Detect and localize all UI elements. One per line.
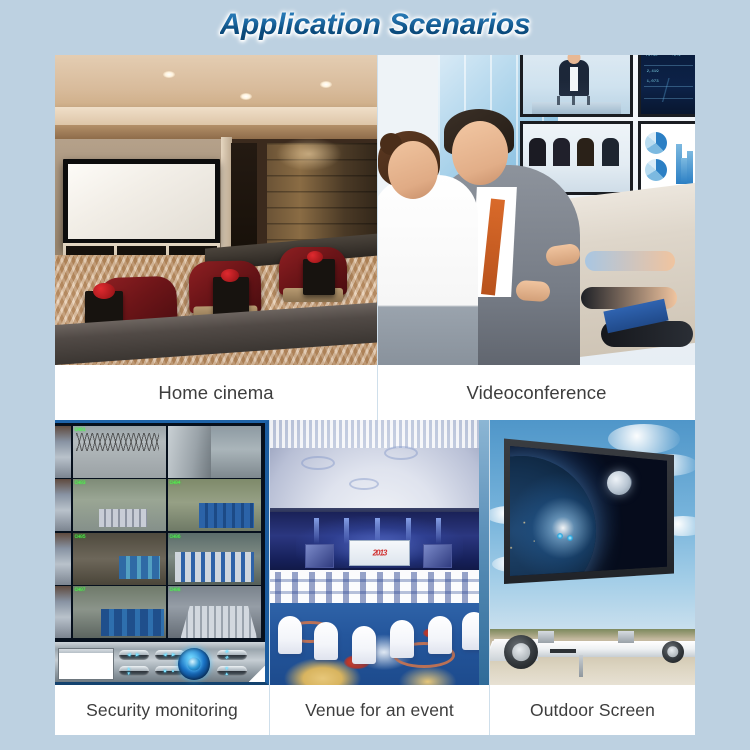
venue-chair <box>278 616 302 654</box>
venue-main-screen: 2013 <box>349 540 410 566</box>
trailer-wheel <box>662 641 684 663</box>
venue-chair <box>428 616 452 654</box>
venue-right-edge <box>479 420 489 685</box>
trailer-jack <box>579 655 583 677</box>
scenario-image-outdoor-screen <box>490 420 695 685</box>
scenario-row-1-images: 73.40 +1.2 2,419 1,073 <box>55 55 695 365</box>
earth-graphic <box>510 456 596 576</box>
outdoor-led-screen <box>504 434 674 584</box>
dvr-button[interactable]: ◀ ▶ <box>119 650 149 660</box>
scenario-image-venue: 2013 <box>270 420 489 685</box>
cctv-timestamp: CH06 <box>170 534 181 540</box>
poster-root: Application Scenarios <box>0 0 750 750</box>
cctv-camera: CH07 <box>73 586 167 638</box>
vc-far-participants <box>581 235 695 365</box>
scenario-image-home-cinema <box>55 55 377 365</box>
cctv-timestamp: CH01 <box>75 427 86 433</box>
cinema-door <box>231 143 257 255</box>
venue-chair <box>352 626 376 664</box>
venue-ceiling-medallion <box>384 446 418 460</box>
dvr-display <box>58 648 114 680</box>
cctv-timestamp: CH05 <box>75 534 86 540</box>
dvr-joystick[interactable] <box>178 648 210 680</box>
venue-ceiling-medallion <box>301 456 335 470</box>
scenario-row-1-captions: Home cinema Videoconference <box>55 365 695 420</box>
dvr-control-panel: ◀ ▶ ▲ ▼ ◀ ▶ ■ ● ❖ ❖ ▼ ▲ <box>55 642 269 685</box>
cctv-camera: CH02 <box>168 426 262 478</box>
scenario-row-2-images: CH01 CH02 CH03 CH04 CH05 CH06 CH07 CH08 <box>55 420 695 685</box>
cctv-camera: CH08 <box>168 586 262 638</box>
dvr-button[interactable]: ▼ ▲ <box>217 666 247 676</box>
panel-corner-highlight <box>249 666 265 682</box>
dvr-button[interactable]: ❖ ❖ <box>217 650 247 660</box>
cctv-camera-edge <box>55 479 71 531</box>
cctv-camera: CH03 <box>73 479 167 531</box>
cctv-camera: CH05 <box>73 533 167 585</box>
cinema-flower-arrangement <box>307 251 323 263</box>
cctv-camera: CH01 <box>73 426 167 478</box>
scenario-image-videoconference: 73.40 +1.2 2,419 1,073 <box>378 55 695 365</box>
trailer-wheel <box>504 635 538 669</box>
page-title-wrap: Application Scenarios <box>0 8 750 42</box>
venue-ceiling-medallion <box>349 478 379 490</box>
caption-outdoor-screen: Outdoor Screen <box>490 685 695 735</box>
spacecraft-graphic <box>557 533 575 541</box>
caption-videoconference: Videoconference <box>378 365 695 420</box>
caption-security-monitoring: Security monitoring <box>55 685 269 735</box>
downlight-icon <box>163 71 175 78</box>
cctv-timestamp: CH07 <box>75 587 86 593</box>
scenario-image-security-monitoring: CH01 CH02 CH03 CH04 CH05 CH06 CH07 CH08 <box>55 420 269 685</box>
vc-video-panel-presenter <box>520 55 633 117</box>
outdoor-screen-content <box>510 442 667 576</box>
venue-chair <box>390 620 414 658</box>
cctv-camera-grid: CH01 CH02 CH03 CH04 CH05 CH06 CH07 CH08 <box>55 426 261 638</box>
cinema-side-table <box>303 259 335 295</box>
cctv-camera-edge <box>55 586 71 638</box>
venue-side-screen <box>423 544 451 568</box>
caption-venue: Venue for an event <box>270 685 489 735</box>
downlight-icon <box>240 93 252 100</box>
cctv-timestamp: CH02 <box>170 427 181 433</box>
venue-screen-text: 2013 <box>373 549 387 558</box>
cctv-camera-edge <box>55 533 71 585</box>
trailer-hitch <box>550 649 576 653</box>
cinema-flower-arrangement <box>93 283 115 299</box>
cloud-icon <box>608 424 680 454</box>
dvr-button[interactable]: ▲ ▼ <box>119 666 149 676</box>
venue-side-screen <box>305 544 333 568</box>
venue-carpet <box>270 603 489 685</box>
cinema-flower-arrangement <box>221 269 239 282</box>
page-title: Application Scenarios <box>220 8 531 42</box>
scenario-grid: 73.40 +1.2 2,419 1,073 <box>55 55 695 735</box>
cctv-timestamp: CH08 <box>170 587 181 593</box>
cctv-monitor: CH01 CH02 CH03 CH04 CH05 CH06 CH07 CH08 <box>55 420 269 642</box>
cinema-projection-screen <box>63 159 220 247</box>
cctv-camera: CH06 <box>168 533 262 585</box>
moon-graphic <box>607 471 631 495</box>
cctv-timestamp: CH04 <box>170 480 181 486</box>
trailer-mount <box>618 631 634 643</box>
downlight-icon <box>320 81 332 88</box>
vc-participant-woman <box>378 175 478 365</box>
scenario-row-2-captions: Security monitoring Venue for an event O… <box>55 685 695 735</box>
cctv-camera-edge <box>55 426 71 478</box>
cctv-camera: CH04 <box>168 479 262 531</box>
vc-video-panel-data: 73.40 +1.2 2,419 1,073 <box>638 55 695 117</box>
vc-hand <box>515 280 550 302</box>
cinema-screen-surface <box>68 164 215 239</box>
trailer-mount <box>538 631 554 643</box>
caption-home-cinema: Home cinema <box>55 365 377 420</box>
venue-chair <box>314 622 338 660</box>
outdoor-trailer <box>490 623 695 671</box>
cctv-timestamp: CH03 <box>75 480 86 486</box>
